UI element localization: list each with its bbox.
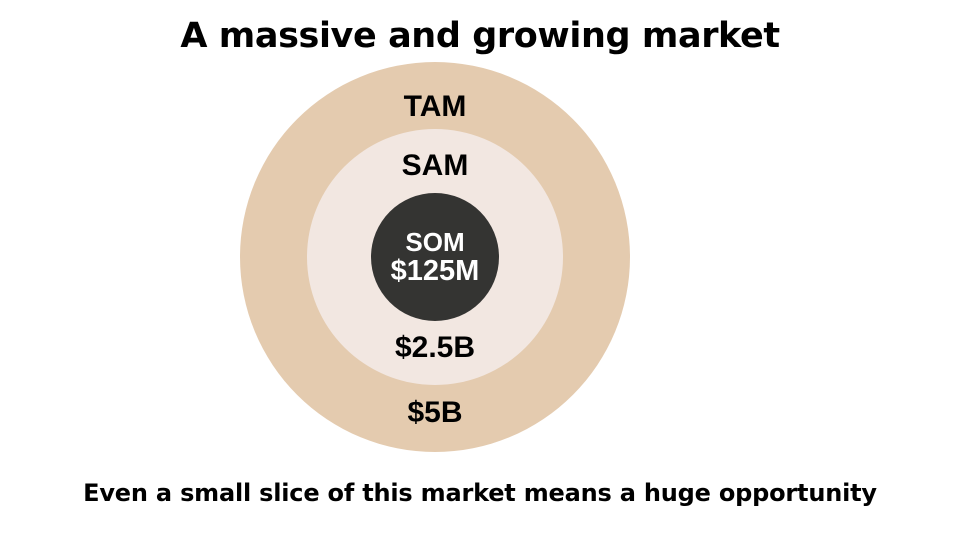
slide-footer-text: Even a small slice of this market means … xyxy=(0,478,960,508)
som-label-group: SOM $125M xyxy=(355,228,515,286)
som-value: $125M xyxy=(355,257,515,286)
page-title: A massive and growing market xyxy=(0,14,960,58)
sam-value: $2.5B xyxy=(240,331,630,365)
tam-sam-som-diagram: SOM $125M TAM SAM $2.5B $5B xyxy=(240,62,630,452)
som-circle[interactable]: SOM $125M xyxy=(371,193,499,321)
tam-value: $5B xyxy=(240,396,630,430)
som-label: SOM xyxy=(355,228,515,257)
sam-label: SAM xyxy=(240,149,630,183)
tam-label: TAM xyxy=(240,90,630,124)
slide-canvas: A massive and growing market SOM $125M T… xyxy=(0,0,960,540)
